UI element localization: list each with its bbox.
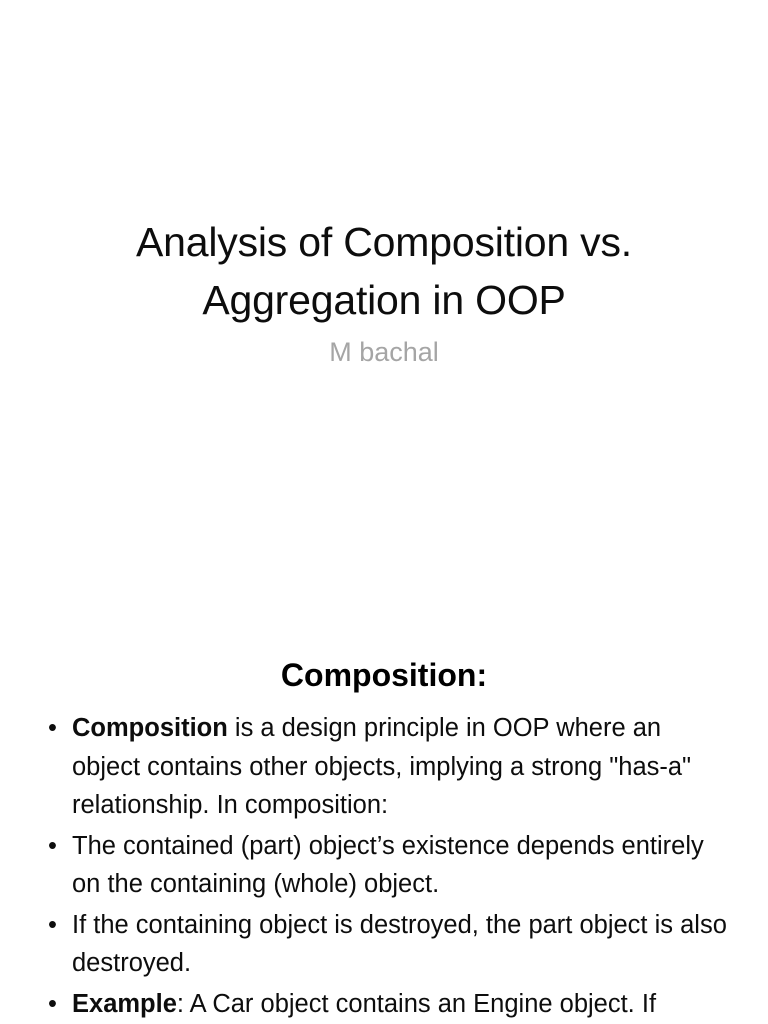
list-item-text: The contained (part) object’s existence … xyxy=(72,827,730,904)
list-item: • If the containing object is destroyed,… xyxy=(38,906,730,983)
bullet-dot-icon: • xyxy=(48,985,62,1024)
list-item-lead: Example xyxy=(72,990,177,1018)
page-subtitle-author: M bachal xyxy=(64,332,704,372)
bullet-dot-icon: • xyxy=(48,827,62,866)
page-title: Analysis of Composition vs. Aggregation … xyxy=(64,213,704,329)
list-item-lead: Composition xyxy=(72,714,228,742)
list-item-body: The contained (part) object’s existence … xyxy=(72,832,704,899)
section-heading: Composition: xyxy=(48,654,720,696)
list-item: • The contained (part) object’s existenc… xyxy=(38,827,730,904)
content-slide: Composition: • Composition is a design p… xyxy=(0,576,768,1024)
list-item-body: If the containing object is destroyed, t… xyxy=(72,911,727,978)
title-slide: Analysis of Composition vs. Aggregation … xyxy=(0,0,768,576)
list-item-text: Composition is a design principle in OOP… xyxy=(72,709,730,825)
list-item-body: : A Car object contains an Engine object… xyxy=(177,990,656,1018)
bullet-dot-icon: • xyxy=(48,906,62,945)
bullet-list: • Composition is a design principle in O… xyxy=(38,709,730,1023)
list-item-text: Example: A Car object contains an Engine… xyxy=(72,985,730,1024)
bullet-dot-icon: • xyxy=(48,709,62,748)
document-page: { "page": { "background_color": "#ffffff… xyxy=(0,0,768,1024)
list-item-text: If the containing object is destroyed, t… xyxy=(72,906,730,983)
list-item: • Composition is a design principle in O… xyxy=(38,709,730,825)
list-item: • Example: A Car object contains an Engi… xyxy=(38,985,730,1024)
